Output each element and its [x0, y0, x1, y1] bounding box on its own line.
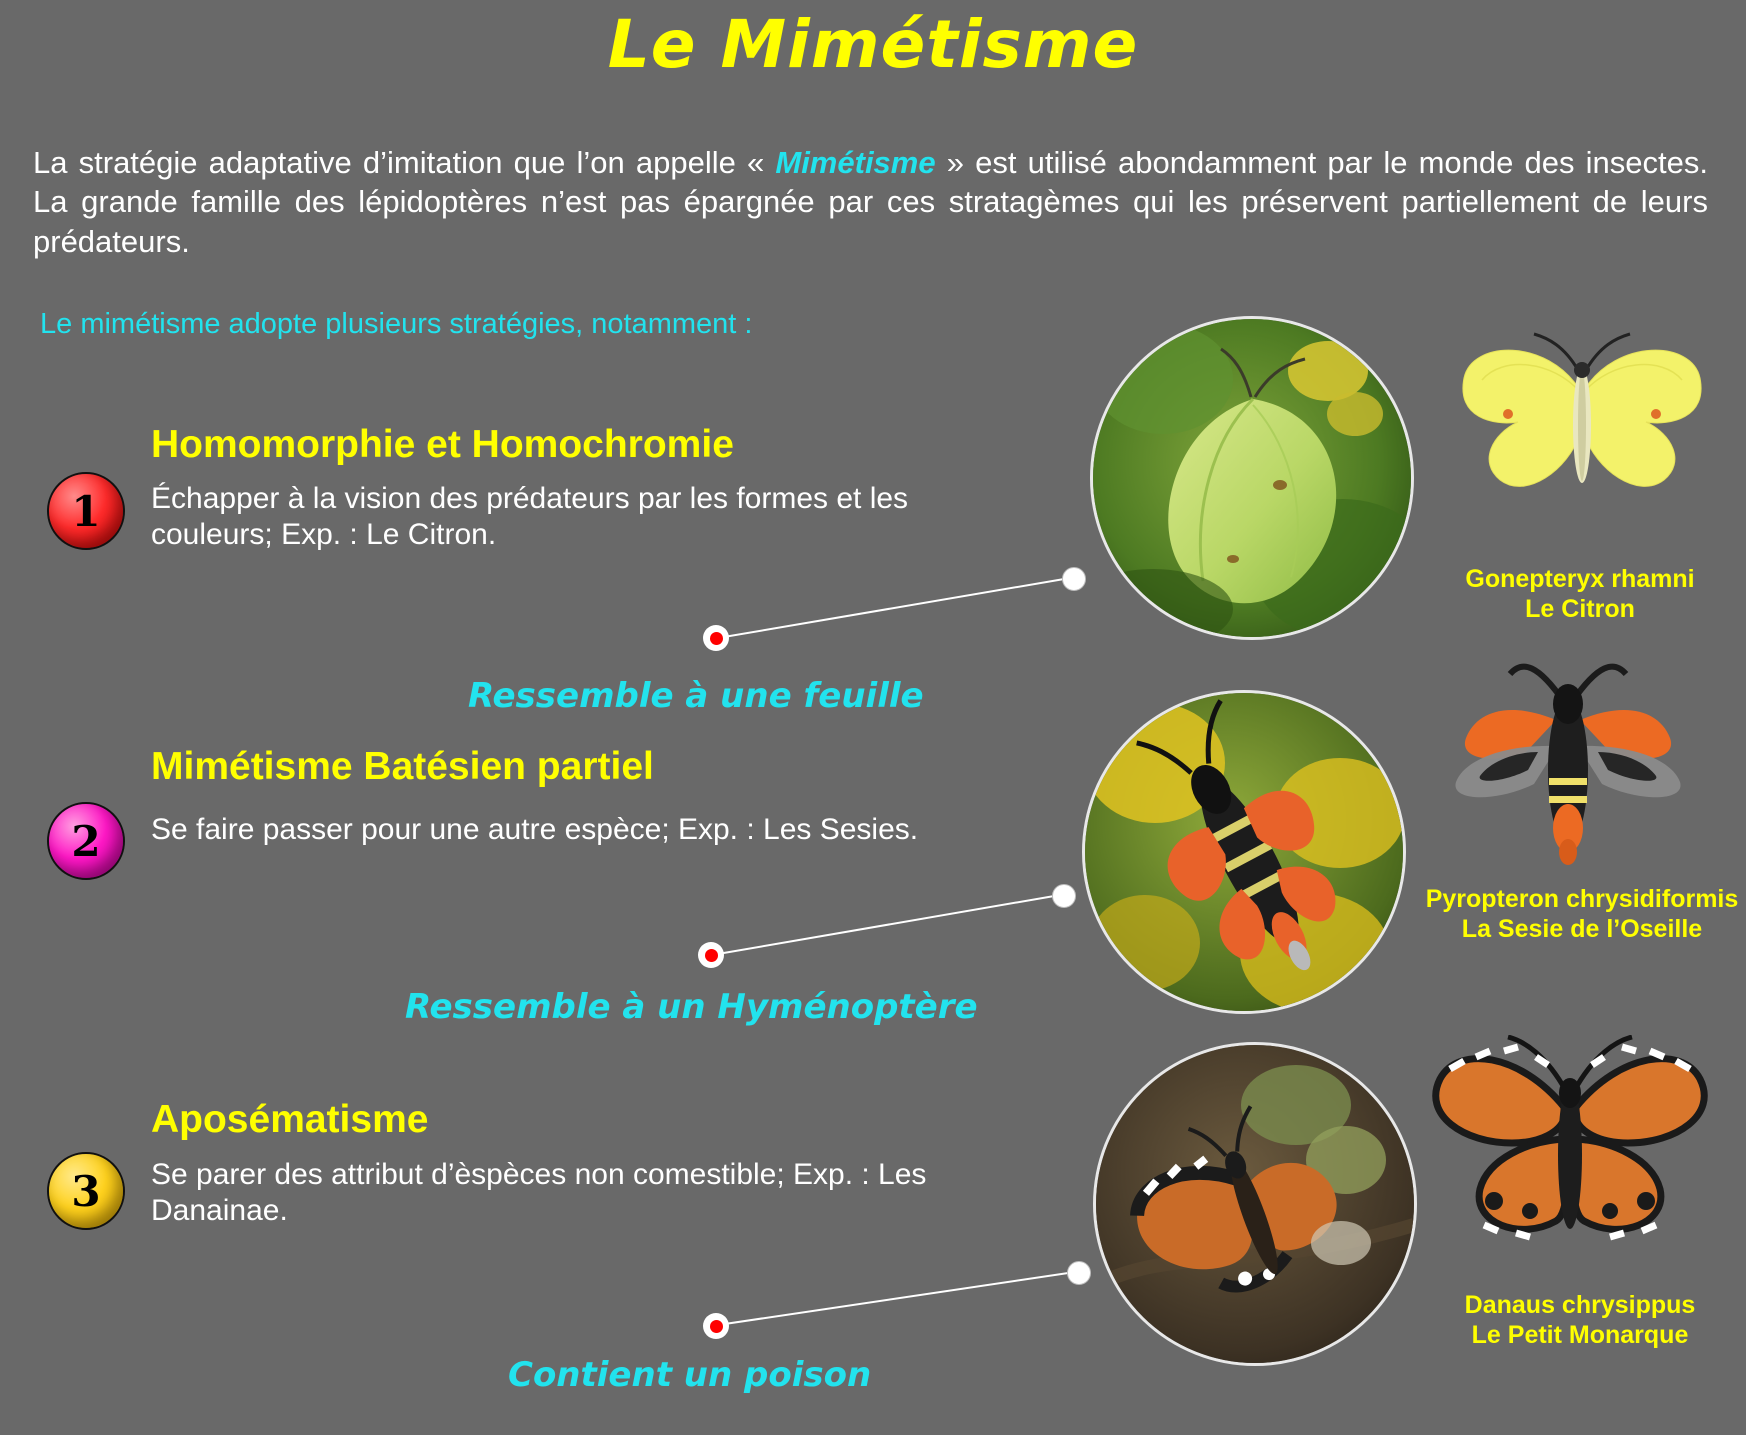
strategy-2-heading: Mimétisme Batésien partiel [151, 745, 654, 789]
species-3-latin: Danaus chrysippus [1420, 1290, 1740, 1320]
photo-1-image [1093, 319, 1411, 637]
badge-number-3: 3 [47, 1152, 125, 1230]
photo-anchor-dot-1 [1062, 567, 1086, 591]
badge-3-label: 3 [71, 1167, 100, 1216]
species-3-common: Le Petit Monarque [1420, 1320, 1740, 1350]
illustration-strategy-2 [1418, 660, 1718, 870]
strategy-1-heading: Homomorphie et Homochromie [151, 423, 734, 467]
page-title: Le Mimétisme [0, 6, 1746, 83]
strategy-1-caption: Ressemble à une feuille [468, 676, 924, 716]
intro-text-part1: La stratégie adaptative d’imitation que … [33, 145, 775, 180]
anchor-dot-2 [698, 942, 724, 968]
photo-strategy-3 [1093, 1042, 1417, 1366]
photo-anchor-dot-2 [1052, 884, 1076, 908]
badge-number-2: 2 [47, 802, 125, 880]
intro-paragraph: La stratégie adaptative d’imitation que … [33, 143, 1708, 261]
infographic-page: Le Mimétisme La stratégie adaptative d’i… [0, 0, 1746, 1435]
species-label-2: Pyropteron chrysidiformis La Sesie de l’… [1422, 884, 1742, 944]
illustration-strategy-1 [1452, 330, 1712, 520]
badge-1-label: 1 [71, 487, 100, 536]
photo-strategy-1 [1090, 316, 1414, 640]
illustration-strategy-3 [1420, 1035, 1720, 1265]
strategy-2-caption: Ressemble à un Hyménoptère [405, 987, 978, 1027]
intro-highlight-mimetisme: Mimétisme [775, 145, 935, 180]
species-1-latin: Gonepteryx rhamni [1430, 564, 1730, 594]
strategy-2-description: Se faire passer pour une autre espèce; E… [151, 812, 991, 848]
butterfly-citron-icon [1452, 330, 1712, 520]
photo-strategy-2 [1082, 690, 1406, 1014]
anchor-dot-3 [703, 1313, 729, 1339]
strategy-3-description: Se parer des attribut d’èspèces non come… [151, 1157, 991, 1229]
badge-2-label: 2 [71, 817, 100, 866]
monarque-butterfly-icon [1420, 1035, 1720, 1265]
species-label-1: Gonepteryx rhamni Le Citron [1430, 564, 1730, 624]
sesie-moth-icon [1418, 660, 1718, 870]
badge-number-1: 1 [47, 472, 125, 550]
species-1-common: Le Citron [1430, 594, 1730, 624]
species-2-latin: Pyropteron chrysidiformis [1422, 884, 1742, 914]
species-label-3: Danaus chrysippus Le Petit Monarque [1420, 1290, 1740, 1350]
strategy-3-caption: Contient un poison [508, 1355, 871, 1395]
strategy-3-heading: Aposématisme [151, 1098, 428, 1142]
subtitle-strategies: Le mimétisme adopte plusieurs stratégies… [40, 308, 752, 341]
species-2-common: La Sesie de l’Oseille [1422, 914, 1742, 944]
strategy-1-description: Échapper à la vision des prédateurs par … [151, 481, 991, 553]
photo-2-image [1085, 693, 1403, 1011]
photo-anchor-dot-3 [1067, 1261, 1091, 1285]
photo-3-image [1096, 1045, 1414, 1363]
anchor-dot-1 [703, 625, 729, 651]
